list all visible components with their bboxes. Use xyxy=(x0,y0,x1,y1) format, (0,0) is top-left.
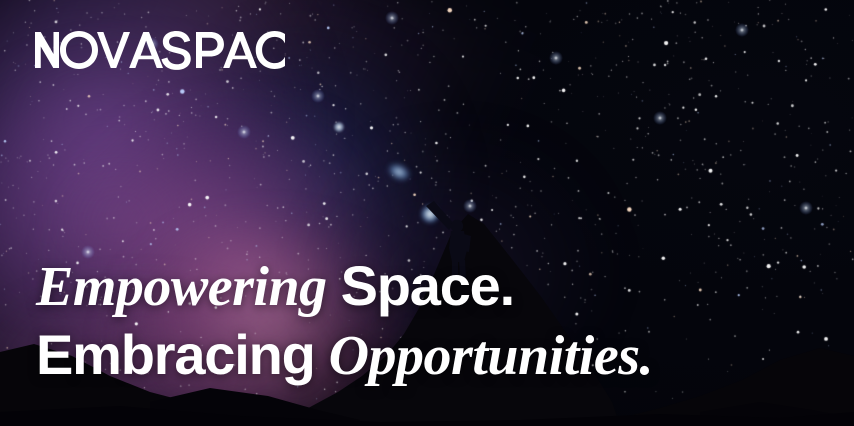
headline-opportunities: Opportunities. xyxy=(329,325,653,387)
head xyxy=(451,220,463,232)
novaspace-hero-banner: EmpoweringSpace. EmbracingOpportunities. xyxy=(0,0,854,426)
headline-embracing: Embracing xyxy=(36,323,315,386)
headline: EmpoweringSpace. EmbracingOpportunities. xyxy=(36,258,826,384)
headline-line-1: EmpoweringSpace. xyxy=(36,258,826,315)
novaspace-wordmark-icon xyxy=(35,30,285,70)
headline-line-2: EmbracingOpportunities. xyxy=(36,327,826,384)
raised-arm xyxy=(426,201,454,230)
novaspace-logo[interactable] xyxy=(35,30,285,70)
headline-empowering: Empowering xyxy=(36,256,327,318)
lower-arm xyxy=(464,234,471,252)
headline-space: Space. xyxy=(341,254,514,317)
